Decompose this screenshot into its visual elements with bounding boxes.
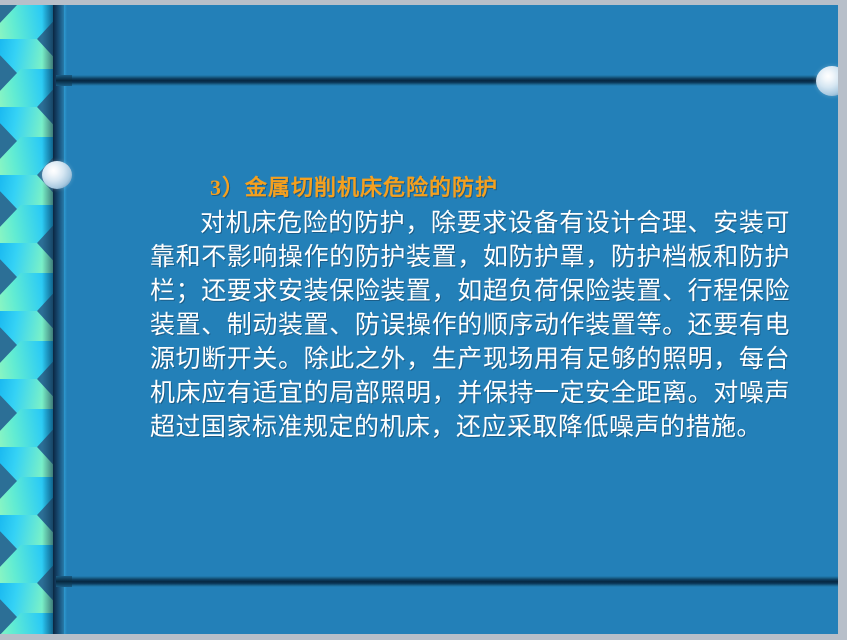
ribbon-segment <box>0 243 56 311</box>
slide-content: 3）金属切削机床危险的防护 对机床危险的防护，除要求设备有设计合理、安装可靠和不… <box>150 173 790 445</box>
ribbon-segment <box>0 39 56 107</box>
vertical-rod-highlight <box>64 5 67 634</box>
slide-title: 3）金属切削机床危险的防护 <box>210 173 790 203</box>
ribbon-segment <box>0 311 56 379</box>
divider-rail-top-stub <box>56 75 72 86</box>
divider-rail-bottom-stub <box>56 576 72 587</box>
bottom-edge-band <box>0 634 847 640</box>
ribbon-segment <box>0 447 56 515</box>
ribbon-segment <box>0 5 56 39</box>
slide-body-text: 对机床危险的防护，除要求设备有设计合理、安装可靠和不影响操作的防护装置，如防护罩… <box>150 207 790 445</box>
pearl-bead-left <box>42 161 72 189</box>
top-edge-band <box>0 0 847 5</box>
ribbon-segment <box>0 379 56 447</box>
right-edge-band <box>838 0 847 640</box>
pearl-bead-right <box>816 66 838 96</box>
divider-rail-top <box>56 75 838 86</box>
divider-rail-bottom <box>56 576 838 587</box>
slide-canvas: 3）金属切削机床危险的防护 对机床危险的防护，除要求设备有设计合理、安装可靠和不… <box>0 5 838 634</box>
presentation-slide: 3）金属切削机床危险的防护 对机床危险的防护，除要求设备有设计合理、安装可靠和不… <box>0 0 847 640</box>
ribbon-segment <box>0 583 56 634</box>
twisted-ribbon-border <box>0 5 56 634</box>
ribbon-segment <box>0 515 56 583</box>
